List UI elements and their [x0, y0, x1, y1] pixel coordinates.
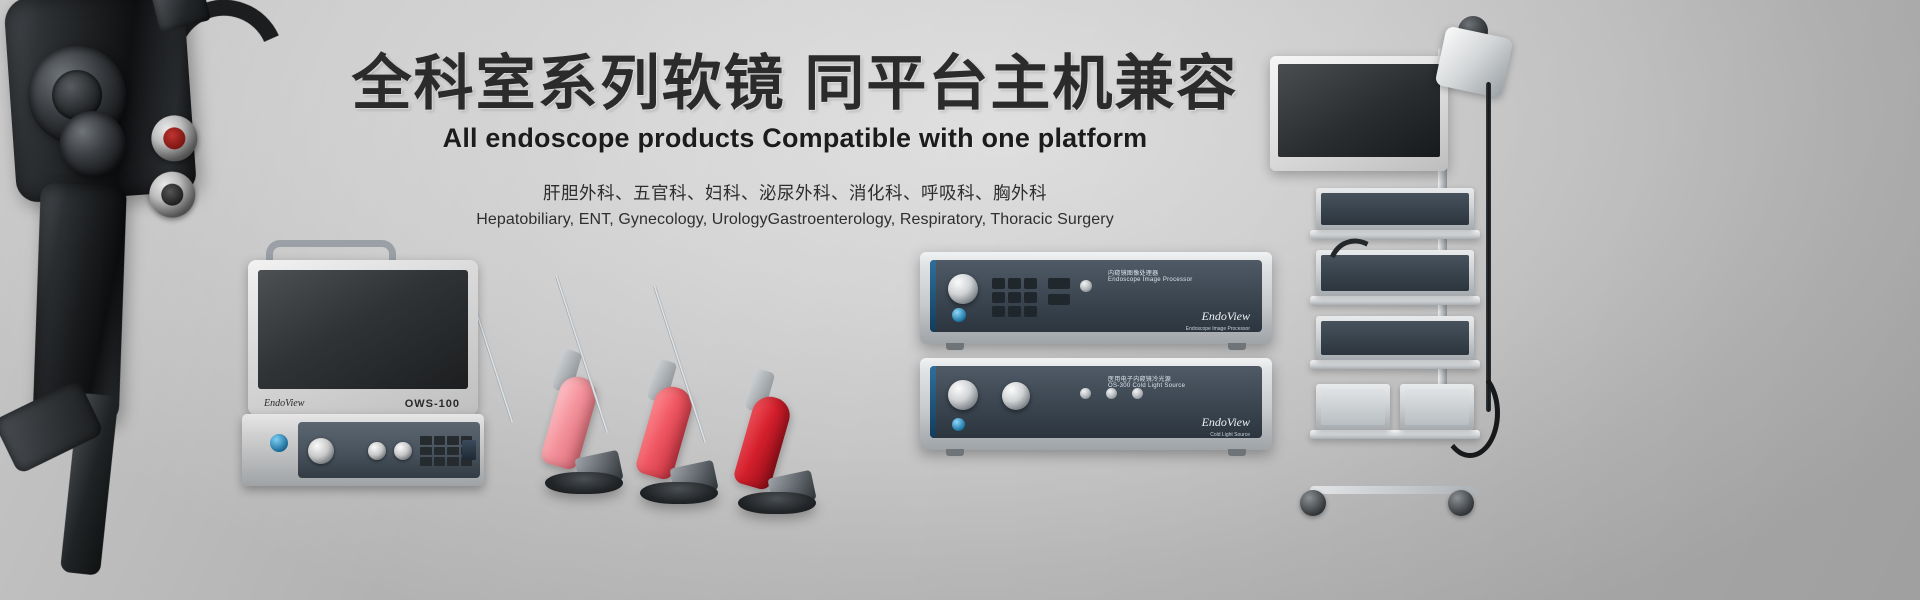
light-source-brand: EndoView	[1202, 415, 1250, 430]
image-processor-port-b	[1048, 294, 1070, 305]
monitor-knob-a	[368, 442, 386, 460]
cold-light-source-unit: 医用电子内窥镜冷光源 OS-300 Cold Light Source Endo…	[920, 358, 1272, 450]
image-processor-unit: 内窥镜图像处理器 Endoscope Image Processor EndoV…	[920, 252, 1272, 344]
monitor-model-label: OWS-100	[405, 398, 460, 410]
endoscope-suction-button	[148, 170, 197, 219]
light-source-button-2	[1106, 388, 1117, 399]
cart-monitor-screen	[1278, 64, 1440, 157]
processor-foot	[946, 343, 964, 350]
monitor-side-port	[462, 440, 476, 460]
cart-endoscope-tip-curve	[1440, 368, 1500, 458]
light-source-button-1	[1080, 388, 1091, 399]
flexible-endoscope-image	[0, 0, 318, 511]
cart-wheel-right	[1448, 490, 1474, 516]
light-source-brand-sub: Cold Light Source	[1210, 432, 1250, 438]
light-source-port-knob	[948, 380, 978, 410]
cart-wheel-left	[1300, 490, 1326, 516]
image-processor-title-en: Endoscope Image Processor	[1108, 277, 1193, 283]
processor-foot	[1228, 449, 1246, 456]
image-processor-keypad	[992, 278, 1037, 317]
light-source-title-cn: 医用电子内窥镜冷光源	[1108, 374, 1171, 383]
cart-shelf-top	[1310, 230, 1480, 239]
cart-monitor	[1270, 56, 1448, 171]
light-source-title-en: OS-300 Cold Light Source	[1108, 383, 1185, 389]
cart-device-bottom-left-panel	[1321, 389, 1385, 425]
departments-chinese: 肝胆外科、五官科、妇科、泌尿外科、消化科、呼吸科、胸外科	[330, 180, 1260, 205]
image-processor-scope-socket	[952, 308, 966, 322]
cart-device-upper	[1316, 188, 1474, 230]
processor-foot	[1228, 343, 1246, 350]
monitor-control-panel	[298, 422, 480, 478]
cart-shelf-second	[1310, 296, 1480, 305]
processor-accent-strip	[930, 366, 936, 438]
light-source-brightness-dial	[1002, 382, 1030, 410]
light-source-indicator	[952, 418, 965, 431]
departments-english: Hepatobiliary, ENT, Gynecology, UrologyG…	[330, 211, 1260, 229]
endoscopy-cart	[1290, 38, 1590, 558]
image-processor-main-knob	[948, 274, 978, 304]
image-processor-brand-sub: Endoscope Image Processor	[1186, 326, 1250, 332]
image-processor-front-panel: 内窥镜图像处理器 Endoscope Image Processor EndoV…	[930, 260, 1262, 332]
product-banner: 全科室系列软镜 同平台主机兼容 All endoscope products C…	[0, 0, 1920, 600]
endoscope-red-button	[150, 114, 199, 163]
image-processor-indicator	[1080, 280, 1092, 292]
cart-device-upper-panel	[1321, 193, 1469, 225]
banner-headline: 全科室系列软镜 同平台主机兼容	[330, 50, 1260, 117]
laryngoscope-stand-base	[738, 492, 816, 514]
banner-subheadline: All endoscope products Compatible with o…	[330, 123, 1260, 154]
cart-device-lower	[1316, 316, 1474, 360]
image-processor-port-a	[1048, 278, 1070, 289]
light-source-button-3	[1132, 388, 1143, 399]
banner-text-block: 全科室系列软镜 同平台主机兼容 All endoscope products C…	[330, 50, 1260, 229]
processor-accent-strip	[930, 260, 936, 332]
processor-stack: 内窥镜图像处理器 Endoscope Image Processor EndoV…	[920, 252, 1280, 462]
light-source-front-panel: 医用电子内窥镜冷光源 OS-300 Cold Light Source Endo…	[930, 366, 1262, 438]
image-processor-brand: EndoView	[1202, 309, 1250, 324]
cart-shelf-third	[1310, 360, 1480, 369]
image-processor-title-cn: 内窥镜图像处理器	[1108, 268, 1158, 277]
laryngoscope-deep-red	[698, 278, 848, 518]
processor-foot	[946, 449, 964, 456]
cart-endoscope-tube	[1486, 82, 1491, 412]
cart-device-bottom-left	[1316, 384, 1390, 430]
endoscope-control-head	[3, 0, 197, 203]
cart-device-lower-panel	[1321, 321, 1469, 355]
monitor-knob-b	[394, 442, 412, 460]
